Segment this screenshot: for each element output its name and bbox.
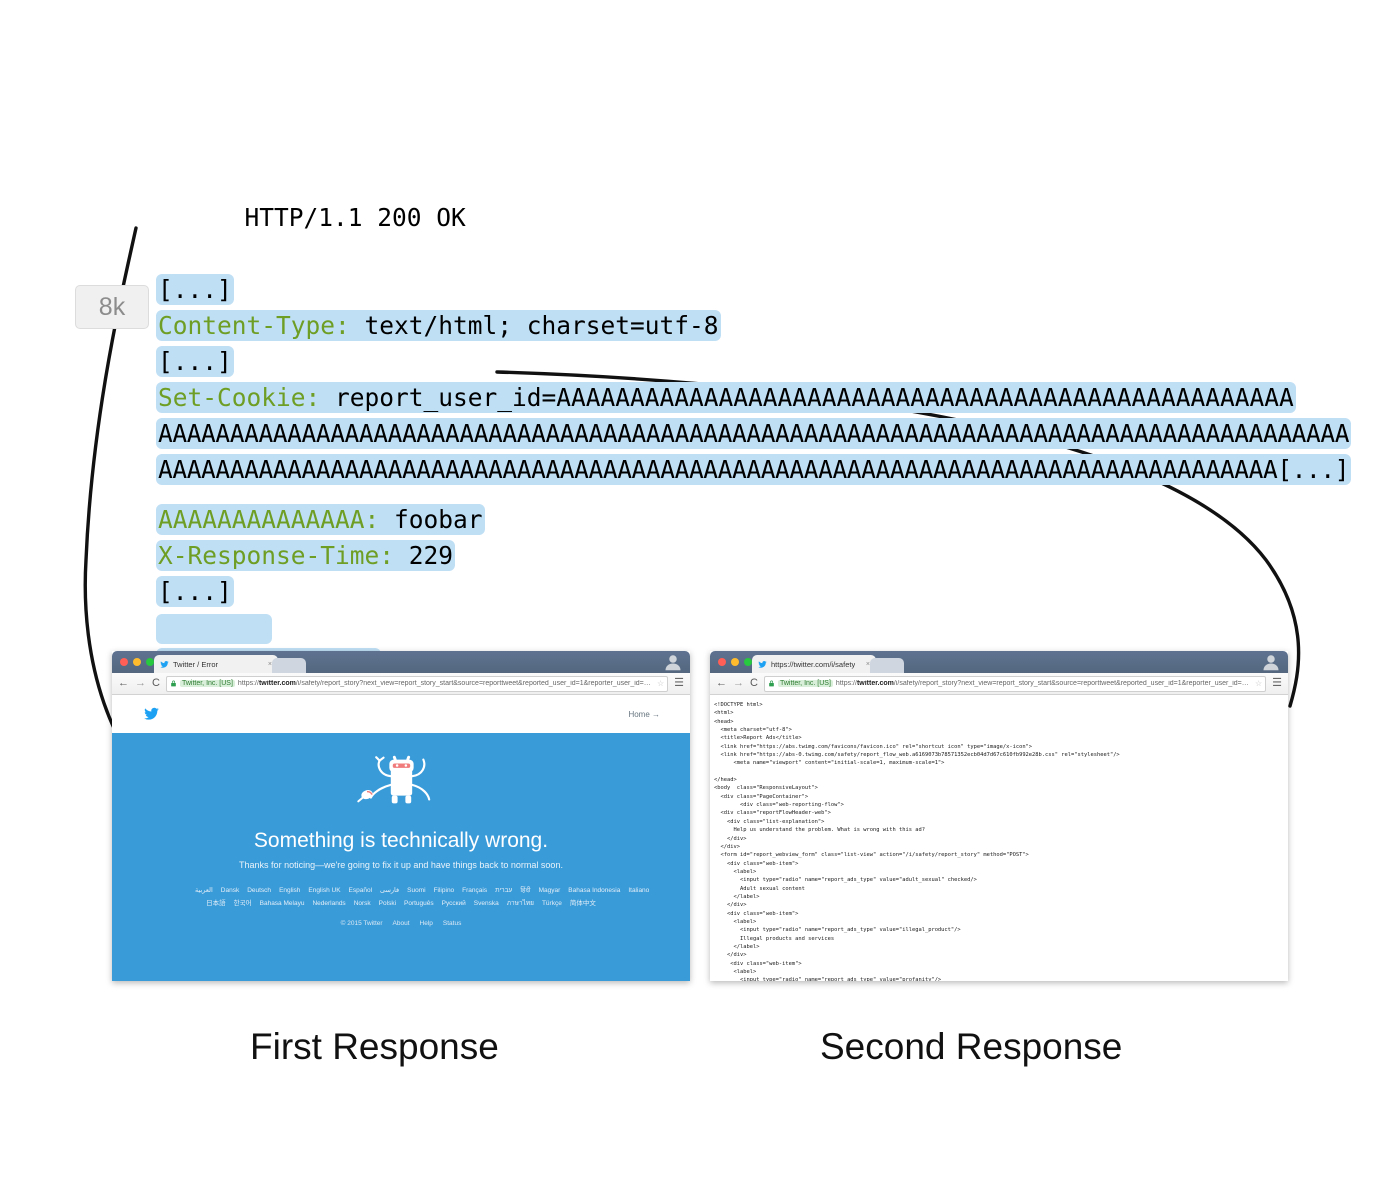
home-link[interactable]: Home → bbox=[628, 710, 660, 719]
language-link[interactable]: Русский bbox=[442, 900, 466, 907]
user-avatar-icon-right[interactable] bbox=[1262, 653, 1280, 671]
language-list[interactable]: العربيةDanskDeutschEnglishEnglish UKEspa… bbox=[191, 884, 611, 910]
language-link[interactable]: עברית bbox=[495, 887, 512, 894]
language-link[interactable]: Suomi bbox=[407, 887, 425, 894]
language-link[interactable]: 한국어 bbox=[234, 900, 252, 907]
language-link[interactable]: Deutsch bbox=[247, 887, 271, 894]
language-link[interactable]: Português bbox=[404, 900, 434, 907]
back-button-left[interactable]: ← bbox=[118, 678, 129, 689]
response-elision-line: [...] bbox=[156, 272, 1351, 308]
copyright-text: © 2015 Twitter bbox=[341, 920, 383, 927]
language-link[interactable]: Dansk bbox=[221, 887, 239, 894]
size-badge-label: 8k bbox=[99, 293, 125, 322]
titlebar-left: Twitter / Error × bbox=[112, 651, 690, 673]
menu-icon-left[interactable]: ☰ bbox=[674, 678, 684, 689]
close-window-icon[interactable] bbox=[718, 658, 726, 666]
url-scheme-left: https:// bbox=[238, 680, 259, 687]
header-gap bbox=[156, 488, 1351, 502]
url-scheme-right: https:// bbox=[836, 680, 857, 687]
response-blank-line bbox=[156, 610, 1351, 646]
language-link[interactable]: 日本語 bbox=[206, 900, 226, 907]
response-header-line: AAAAAAAAAAAAAA: foobar bbox=[156, 502, 1351, 538]
language-link[interactable]: Polski bbox=[379, 900, 396, 907]
url-text-right: https://twitter.com/i/safety/report_stor… bbox=[836, 680, 1252, 687]
minimize-window-icon[interactable] bbox=[133, 658, 141, 666]
header-field-name: AAAAAAAAAAAAAA: bbox=[158, 505, 379, 534]
language-link[interactable]: Nederlands bbox=[312, 900, 345, 907]
url-path-right: /i/safety/report_story?next_view=report_… bbox=[894, 680, 1252, 687]
forward-button-left[interactable]: → bbox=[135, 678, 146, 689]
zoom-window-icon[interactable] bbox=[146, 658, 154, 666]
language-link[interactable]: 简体中文 bbox=[570, 900, 596, 907]
status-line: HTTP/1.1 200 OK bbox=[156, 164, 1351, 200]
size-badge: 8k bbox=[75, 285, 149, 329]
language-link[interactable]: Magyar bbox=[539, 887, 561, 894]
error-subtext: Thanks for noticing—we're going to fix i… bbox=[239, 860, 563, 870]
status-line-text: HTTP/1.1 200 OK bbox=[245, 203, 466, 232]
error-headline: Something is technically wrong. bbox=[254, 829, 548, 853]
header-field-name: Set-Cookie: bbox=[158, 383, 320, 412]
header-field-name: X-Response-Time: bbox=[158, 541, 394, 570]
bookmark-star-icon-left[interactable]: ☆ bbox=[657, 679, 664, 688]
cookie-overflow-line: AAAAAAAAAAAAAAAAAAAAAAAAAAAAAAAAAAAAAAAA… bbox=[156, 416, 1351, 452]
language-link[interactable]: ภาษาไทย bbox=[507, 900, 534, 907]
page-footer-links[interactable]: © 2015 TwitterAboutHelpStatus bbox=[336, 920, 467, 927]
lock-icon-right bbox=[768, 680, 775, 687]
language-link[interactable]: Français bbox=[462, 887, 487, 894]
reload-button-left[interactable]: C bbox=[152, 678, 160, 689]
language-link[interactable]: Svenska bbox=[474, 900, 499, 907]
navbar-left: ← → C Twitter, Inc. [US] https://twitter… bbox=[112, 673, 690, 695]
language-link[interactable]: English UK bbox=[308, 887, 340, 894]
new-tab-button-left[interactable] bbox=[272, 658, 306, 673]
broken-robot-illustration-icon bbox=[341, 747, 461, 815]
language-link[interactable]: Filipino bbox=[434, 887, 455, 894]
header-field-value: foobar bbox=[379, 505, 482, 534]
url-text-left: https://twitter.com/i/safety/report_stor… bbox=[238, 680, 654, 687]
language-link[interactable]: Norsk bbox=[354, 900, 371, 907]
user-avatar-icon-left[interactable] bbox=[664, 653, 682, 671]
titlebar-right: https://twitter.com/i/safety × bbox=[710, 651, 1288, 673]
caption-second-response: Second Response bbox=[820, 1026, 1122, 1068]
twitter-favicon-icon bbox=[758, 660, 767, 669]
site-identity-right: Twitter, Inc. [US] bbox=[778, 680, 833, 687]
zoom-window-icon[interactable] bbox=[744, 658, 752, 666]
twitter-page-header: Home → bbox=[112, 695, 690, 733]
lock-icon-left bbox=[170, 680, 177, 687]
url-host-right: twitter.com bbox=[857, 680, 894, 687]
header-field-value: report_user_id=AAAAAAAAAAAAAAAAAAAAAAAAA… bbox=[320, 383, 1294, 412]
language-link[interactable]: Bahasa Melayu bbox=[260, 900, 305, 907]
language-link[interactable]: فارسی bbox=[380, 887, 399, 894]
address-bar-right[interactable]: Twitter, Inc. [US] https://twitter.com/i… bbox=[764, 676, 1266, 692]
cookie-overflow-line: AAAAAAAAAAAAAAAAAAAAAAAAAAAAAAAAAAAAAAAA… bbox=[156, 452, 1351, 488]
language-link[interactable]: Türkçe bbox=[542, 900, 562, 907]
language-link[interactable]: Italiano bbox=[628, 887, 649, 894]
header-lines: [...]Content-Type: text/html; charset=ut… bbox=[156, 272, 1351, 682]
header-field-value: 229 bbox=[394, 541, 453, 570]
twitter-logo-icon bbox=[142, 706, 161, 722]
site-identity-left: Twitter, Inc. [US] bbox=[180, 680, 235, 687]
response-header-line: Set-Cookie: report_user_id=AAAAAAAAAAAAA… bbox=[156, 380, 1351, 416]
back-button-right[interactable]: ← bbox=[716, 678, 727, 689]
language-link[interactable]: हिंदी bbox=[520, 887, 530, 894]
language-link[interactable]: Español bbox=[349, 887, 373, 894]
response-header-line: Content-Type: text/html; charset=utf-8 bbox=[156, 308, 1351, 344]
browser-tab-right[interactable]: https://twitter.com/i/safety × bbox=[752, 655, 876, 673]
browser-window-first-response[interactable]: Twitter / Error × ← → C Twitter, Inc. [U… bbox=[112, 651, 690, 981]
twitter-error-body: Something is technically wrong. Thanks f… bbox=[112, 733, 690, 981]
language-link[interactable]: العربية bbox=[195, 887, 213, 894]
navbar-right: ← → C Twitter, Inc. [US] https://twitter… bbox=[710, 673, 1288, 695]
url-host-left: twitter.com bbox=[259, 680, 296, 687]
response-header-line: X-Response-Time: 229 bbox=[156, 538, 1351, 574]
tab-title-left: Twitter / Error bbox=[173, 660, 218, 669]
header-field-name: Content-Type: bbox=[158, 311, 350, 340]
header-field-value: text/html; charset=utf-8 bbox=[350, 311, 719, 340]
address-bar-left[interactable]: Twitter, Inc. [US] https://twitter.com/i… bbox=[166, 676, 668, 692]
forward-button-right[interactable]: → bbox=[733, 678, 744, 689]
browser-window-second-response[interactable]: https://twitter.com/i/safety × ← → C Twi… bbox=[710, 651, 1288, 981]
browser-tab-left[interactable]: Twitter / Error × bbox=[154, 655, 278, 673]
new-tab-button-right[interactable] bbox=[870, 658, 904, 673]
twitter-favicon-icon bbox=[160, 660, 169, 669]
window-controls-left[interactable] bbox=[120, 658, 154, 666]
close-window-icon[interactable] bbox=[120, 658, 128, 666]
footer-link[interactable]: About bbox=[393, 920, 410, 927]
language-link[interactable]: English bbox=[279, 887, 300, 894]
footer-link[interactable]: Status bbox=[443, 920, 461, 927]
diagram-canvas: 8k HTTP/1.1 200 OK [...]Content-Type: te… bbox=[0, 0, 1400, 1200]
response-elision-line: [...] bbox=[156, 574, 1351, 610]
url-path-left: /i/safety/report_story?next_view=report_… bbox=[296, 680, 654, 687]
footer-link[interactable]: Help bbox=[420, 920, 433, 927]
language-link[interactable]: Bahasa Indonesia bbox=[568, 887, 620, 894]
caption-first-response: First Response bbox=[250, 1026, 499, 1068]
reload-button-right[interactable]: C bbox=[750, 678, 758, 689]
minimize-window-icon[interactable] bbox=[731, 658, 739, 666]
bookmark-star-icon-right[interactable]: ☆ bbox=[1255, 679, 1262, 688]
view-source-content: <!DOCTYPE html> <html> <head> <meta char… bbox=[710, 695, 1288, 981]
menu-icon-right[interactable]: ☰ bbox=[1272, 678, 1282, 689]
window-controls-right[interactable] bbox=[718, 658, 752, 666]
tab-title-right: https://twitter.com/i/safety bbox=[771, 660, 855, 669]
response-elision-line: [...] bbox=[156, 344, 1351, 380]
